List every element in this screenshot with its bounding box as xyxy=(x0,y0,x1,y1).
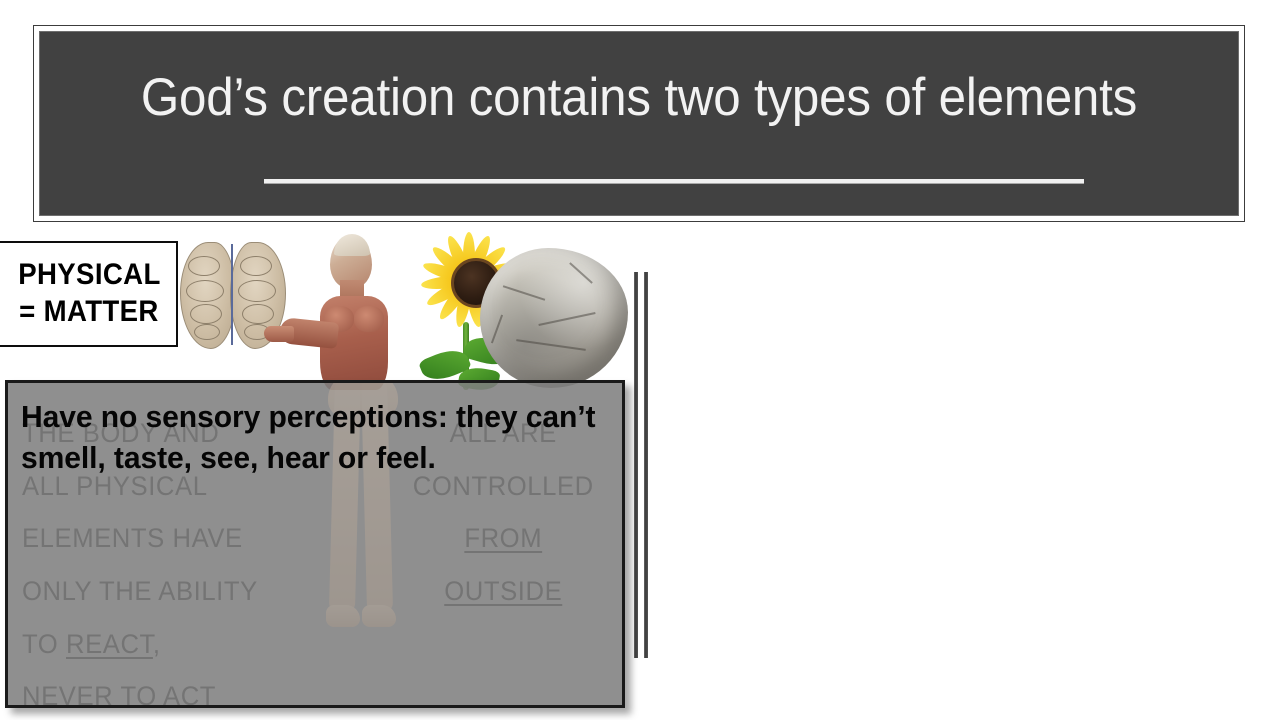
faded-left-line-3: ELEMENTS HAVE xyxy=(22,512,298,565)
brain-gyrus xyxy=(240,256,272,276)
rock-icon xyxy=(480,248,628,388)
brain-gyrus xyxy=(186,280,224,302)
faded-left-line-6: NEVER TO ACT xyxy=(22,670,298,708)
rock-crack xyxy=(491,315,503,344)
figure-hand xyxy=(264,326,294,342)
faded-right-line-3: FROM xyxy=(394,512,613,565)
faded-left-line-5: TO REACT, xyxy=(22,618,298,671)
brain-gyrus xyxy=(242,304,274,324)
content-box: THE BODY AND ALL PHYSICAL ELEMENTS HAVE … xyxy=(5,380,625,708)
page-title: God’s creation contains two types of ele… xyxy=(76,70,1201,126)
brain-gyrus xyxy=(188,256,220,276)
title-banner: God’s creation contains two types of ele… xyxy=(33,25,1245,222)
physical-label-line-2: = MATTER xyxy=(19,294,159,331)
brain-midline xyxy=(231,244,233,345)
vertical-divider-bars xyxy=(633,272,651,658)
divider-bar xyxy=(644,272,648,658)
physical-label-line-1: PHYSICAL xyxy=(18,257,160,294)
main-body-text: Have no sensory perceptions: they can’t … xyxy=(21,397,603,478)
divider-bar xyxy=(634,272,638,658)
faded-left-line-5-suffix: , xyxy=(153,629,161,659)
faded-left-line-4: ONLY THE ABILITY xyxy=(22,565,298,618)
rock-crack xyxy=(569,262,593,284)
brain-gyrus xyxy=(194,324,220,340)
brain-gyrus xyxy=(238,280,276,302)
figure-skull-cap xyxy=(334,234,370,256)
imagery-strip xyxy=(170,230,630,390)
faded-right-line-4: OUTSIDE xyxy=(394,565,613,618)
faded-left-line-5-underlined: REACT xyxy=(66,629,153,659)
figure-foot xyxy=(362,605,396,627)
figure-foot xyxy=(326,605,360,627)
physical-matter-label: PHYSICAL = MATTER xyxy=(0,241,178,347)
brain-gyrus xyxy=(190,304,222,324)
rock-crack xyxy=(516,339,586,351)
figure-pectoral xyxy=(354,306,384,332)
rock-crack xyxy=(538,312,595,326)
faded-left-line-5-prefix: TO xyxy=(22,629,66,659)
title-underline-rule xyxy=(264,179,1084,183)
rock-crack xyxy=(503,285,545,300)
anatomy-figure-icon xyxy=(290,232,420,390)
